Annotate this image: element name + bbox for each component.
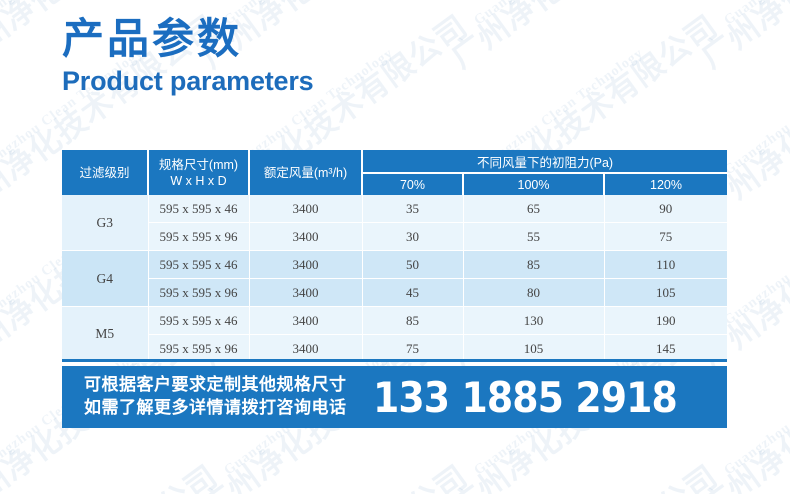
- col-header-120: 120%: [604, 173, 727, 195]
- cell-resistance-120: 110: [604, 251, 727, 279]
- cell-grade: M5: [62, 307, 148, 363]
- cell-resistance-120: 105: [604, 279, 727, 307]
- cell-resistance-100: 130: [463, 307, 604, 335]
- cta-line-1: 可根据客户要求定制其他规格尺寸: [84, 374, 347, 397]
- cell-grade: G3: [62, 195, 148, 251]
- specification-table: 过滤级别 规格尺寸(mm) W x H x D 额定风量(m³/h) 不同风量下…: [62, 150, 727, 363]
- cell-size: 595 x 595 x 46: [148, 195, 249, 223]
- cta-text-block: 可根据客户要求定制其他规格尺寸 如需了解更多详情请拨打咨询电话: [84, 374, 347, 420]
- table-row: 595 x 595 x 9634004580105: [62, 279, 727, 307]
- page-header: 产品参数 Product parameters: [62, 16, 314, 97]
- cell-airflow: 3400: [249, 335, 362, 363]
- cell-resistance-120: 75: [604, 223, 727, 251]
- cell-airflow: 3400: [249, 279, 362, 307]
- cta-phone-number: 133 1885 2918: [373, 373, 677, 422]
- cell-resistance-120: 145: [604, 335, 727, 363]
- cell-airflow: 3400: [249, 195, 362, 223]
- col-header-airflow: 额定风量(m³/h): [249, 150, 362, 195]
- cell-resistance-70: 85: [362, 307, 463, 335]
- col-header-size-line2: W x H x D: [149, 173, 248, 189]
- cell-resistance-70: 50: [362, 251, 463, 279]
- table-header-row-1: 过滤级别 规格尺寸(mm) W x H x D 额定风量(m³/h) 不同风量下…: [62, 150, 727, 173]
- cell-airflow: 3400: [249, 223, 362, 251]
- cell-resistance-70: 30: [362, 223, 463, 251]
- watermark-text: 广州净化技术有限公司Guangzhou Clean Technology: [440, 0, 790, 76]
- page-title-en: Product parameters: [62, 66, 314, 97]
- table-row: 595 x 595 x 96340075105145: [62, 335, 727, 363]
- page-title-cn: 产品参数: [62, 16, 314, 62]
- cell-grade: G4: [62, 251, 148, 307]
- cell-airflow: 3400: [249, 307, 362, 335]
- cell-resistance-70: 35: [362, 195, 463, 223]
- cta-banner: 可根据客户要求定制其他规格尺寸 如需了解更多详情请拨打咨询电话 133 1885…: [62, 366, 727, 428]
- cell-resistance-70: 45: [362, 279, 463, 307]
- col-header-70: 70%: [362, 173, 463, 195]
- cell-resistance-100: 105: [463, 335, 604, 363]
- cell-size: 595 x 595 x 96: [148, 223, 249, 251]
- table-row: G4595 x 595 x 4634005085110: [62, 251, 727, 279]
- cell-resistance-100: 55: [463, 223, 604, 251]
- table-row: 595 x 595 x 963400305575: [62, 223, 727, 251]
- table-header: 过滤级别 规格尺寸(mm) W x H x D 额定风量(m³/h) 不同风量下…: [62, 150, 727, 195]
- cell-size: 595 x 595 x 46: [148, 251, 249, 279]
- table-baseline-rule: [62, 359, 727, 362]
- cell-size: 595 x 595 x 96: [148, 279, 249, 307]
- cell-resistance-70: 75: [362, 335, 463, 363]
- col-header-grade: 过滤级别: [62, 150, 148, 195]
- col-header-resistance-group: 不同风量下的初阻力(Pa): [362, 150, 727, 173]
- col-header-100: 100%: [463, 173, 604, 195]
- table-body: G3595 x 595 x 463400356590595 x 595 x 96…: [62, 195, 727, 362]
- cell-resistance-120: 90: [604, 195, 727, 223]
- cell-resistance-100: 65: [463, 195, 604, 223]
- cell-resistance-100: 80: [463, 279, 604, 307]
- table-row: M5595 x 595 x 46340085130190: [62, 307, 727, 335]
- col-header-size-line1: 规格尺寸(mm): [149, 157, 248, 173]
- cell-resistance-120: 190: [604, 307, 727, 335]
- cell-resistance-100: 85: [463, 251, 604, 279]
- col-header-size: 规格尺寸(mm) W x H x D: [148, 150, 249, 195]
- cell-airflow: 3400: [249, 251, 362, 279]
- table-row: G3595 x 595 x 463400356590: [62, 195, 727, 223]
- watermark-text: 广州净化技术有限公司Guangzhou Clean Technology: [690, 0, 790, 76]
- cta-line-2: 如需了解更多详情请拨打咨询电话: [84, 397, 347, 420]
- cell-size: 595 x 595 x 46: [148, 307, 249, 335]
- cell-size: 595 x 595 x 96: [148, 335, 249, 363]
